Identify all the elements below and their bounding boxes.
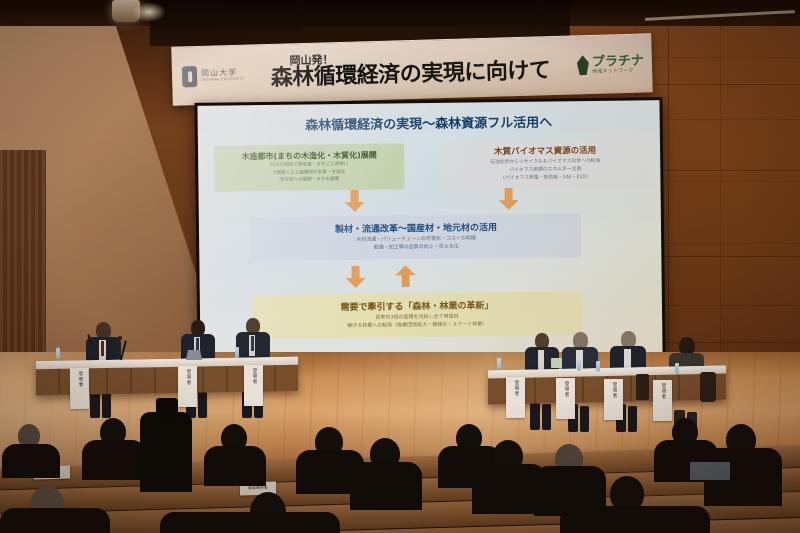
panelist-shirt: [538, 350, 544, 370]
arrow-down-icon: [345, 190, 365, 212]
water-bottle: [675, 363, 679, 374]
laptop: [186, 350, 202, 360]
panelist-necktie: [196, 338, 199, 352]
microphone-head-icon: [118, 336, 122, 340]
panelist-legs: [102, 392, 111, 418]
arrow-up-icon: [395, 265, 415, 287]
slide-box-line: CO2の固定で脱炭素・まちごと森林に: [270, 162, 349, 169]
panelist-legs: [628, 406, 637, 432]
slide-box-heading: 需要で牽引する「森林・林業の革新」: [340, 301, 493, 313]
panelist-legs: [530, 402, 540, 430]
slide-box-line: (バイオマス発電・熱供給・SAF・E10): [503, 175, 587, 182]
nameplate-text: 登壇者: [513, 380, 518, 397]
arrow-down-icon: [499, 188, 519, 210]
panelist-legs: [580, 406, 589, 432]
slide-box-wooden-city: 木造都市(まちの木造化・木質化)展開 CO2の固定で脱炭素・まちごと森林に 5階…: [214, 143, 405, 191]
platinum-logo-subtitle: 地域ネットワーク: [592, 68, 644, 74]
audience-shoulders: [2, 444, 60, 478]
table-nameplate: 登壇者: [556, 378, 575, 419]
water-bottle: [596, 361, 600, 372]
water-bottle: [577, 360, 581, 371]
platinum-logo-name: プラチナ: [592, 54, 644, 68]
slide-box-line: 石油化学からリサイクル＆バイオマス化学への転換: [490, 159, 600, 166]
slide-box-lumber-distribution: 製材・流通改革～国産材・地元材の活用 木材流通・バリューチェーンの可視化・コスト…: [251, 213, 582, 261]
acoustic-rib-panel: [0, 150, 46, 380]
audience-tablet-screen: [690, 462, 730, 480]
audience-shoulders: [160, 512, 340, 533]
panelist-legs: [542, 404, 551, 430]
slide-box-woody-biomass: 木質バイオマス資源の活用 石油化学からリサイクル＆バイオマス化学への転換 バイオ…: [442, 138, 649, 191]
nameplate-text: 登壇者: [77, 371, 82, 388]
slide-box-heading: 木質バイオマス資源の活用: [494, 147, 596, 158]
table-nameplate: 登壇者: [604, 379, 623, 420]
slide-box-heading: 製材・流通改革～国産材・地元材の活用: [335, 223, 497, 235]
audience-shoulders: [0, 508, 110, 533]
table-nameplate: 登壇者: [178, 366, 197, 407]
table-nameplate: 登壇者: [70, 368, 89, 409]
slide-box-line: バイオマス資源のエネルギー活用: [509, 167, 581, 174]
reserved-seat-sign-text: 報道関係者: [248, 486, 268, 492]
audience-shoulders: [204, 446, 266, 486]
slide-box-line: 5階建て以上建築物の木質・木造化: [273, 170, 345, 177]
slide-box-line: 非住宅への展開・まちの展開: [279, 178, 339, 184]
conference-stage-photo: 岡山大学 OKAYAMA UNIVERSITY 岡山発！ 森林循環経済の実現に向…: [0, 0, 800, 533]
platinum-leaf-icon: [577, 55, 590, 75]
ou-monogram-icon: [182, 66, 198, 87]
nameplate-text: 登壇者: [563, 381, 568, 398]
nameplate-text: 登壇者: [611, 382, 616, 399]
table-nameplate: 登壇者: [653, 380, 672, 421]
water-bottle: [235, 347, 239, 358]
nameplate-text: 登壇者: [185, 369, 190, 386]
arrow-down-icon: [345, 266, 365, 288]
water-bottle: [56, 348, 60, 359]
panelist-necktie: [101, 341, 104, 356]
video-camera: [156, 398, 178, 418]
document-paper: [551, 358, 562, 368]
projection-screen: 森林循環経済の実現～森林資源フル活用へ 木造都市(まちの木造化・木質化)展開 C…: [197, 100, 662, 358]
spotlight-glow: [132, 2, 166, 22]
slide-box-line: 木材流通・バリューチェーンの可視化・コストの明確: [356, 235, 476, 243]
bottle-cap: [56, 346, 60, 348]
table-nameplate: 登壇者: [506, 377, 525, 418]
panelist-chair: [700, 372, 716, 402]
projection-screen-frame: 森林循環経済の実現～森林資源フル活用へ 木造都市(まちの木造化・木質化)展開 C…: [194, 97, 665, 361]
slide-title: 森林循環経済の実現～森林資源フル活用へ: [198, 110, 660, 135]
platinum-network-logo: プラチナ 地域ネットワーク: [577, 54, 645, 76]
slide-box-forestry-innovation: 需要で牽引する「森林・林業の革新」 従来の3倍の面積を伐採し全て再造林 稼げる林…: [252, 291, 583, 339]
slide-box-line: 稼げる林業への転換（施業団地拡大・機械化・スマート林業）: [347, 321, 487, 329]
water-bottle: [497, 358, 501, 369]
slide-box-line: 従来の3倍の面積を伐採し全て再造林: [375, 314, 458, 321]
table-nameplate: 登壇者: [244, 365, 263, 406]
audience-shoulders: [350, 462, 422, 510]
camera-operator: [140, 412, 192, 492]
panelist-legs: [198, 392, 207, 418]
nameplate-text: 登壇者: [660, 383, 665, 400]
slide-box-line: 乾燥・加工等の品質の向上・見える化: [374, 244, 459, 251]
slide-box-heading: 木造都市(まちの木造化・木質化)展開: [241, 150, 376, 161]
ou-logo-name-en: OKAYAMA UNIVERSITY: [201, 77, 244, 82]
audience-shoulders: [560, 506, 710, 533]
panelist-necktie: [251, 336, 254, 351]
nameplate-text: 登壇者: [251, 368, 256, 385]
audience-shoulders: [82, 440, 146, 480]
okayama-university-logo: 岡山大学 OKAYAMA UNIVERSITY: [182, 64, 244, 87]
panelist-chair: [636, 374, 649, 400]
